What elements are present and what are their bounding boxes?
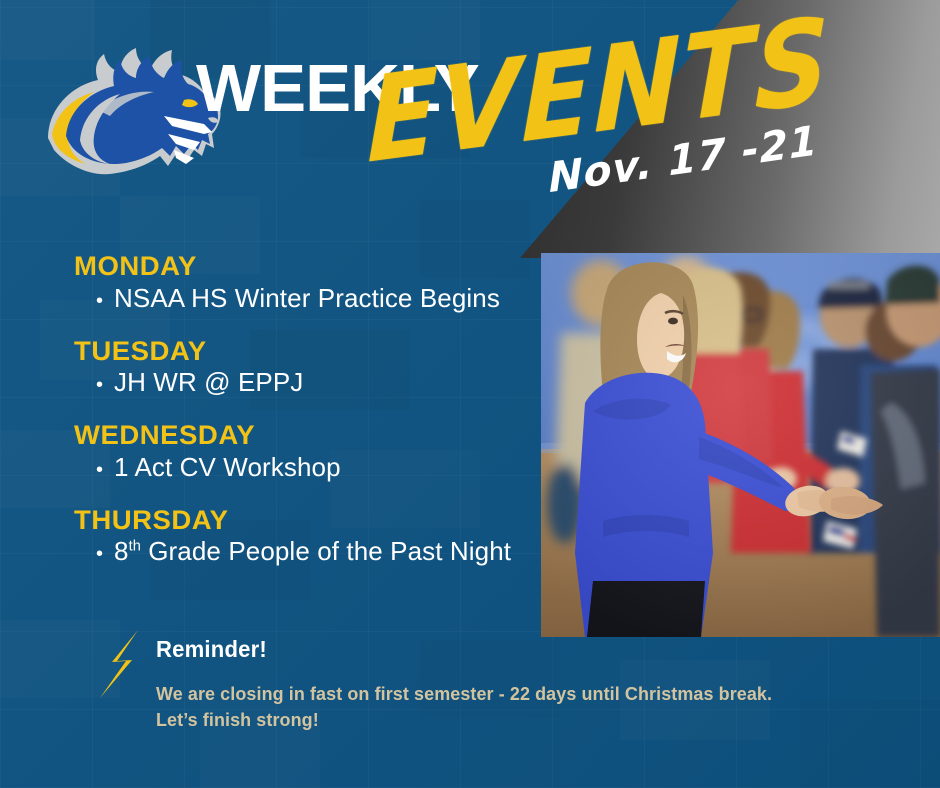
event-item-tuesday-0: • JH WR @ EPPJ — [74, 368, 544, 398]
day-heading-monday: MONDAY — [74, 252, 553, 282]
reminder-title: Reminder! — [156, 636, 766, 664]
day-block-tuesday: TUESDAY • JH WR @ EPPJ — [74, 337, 544, 399]
day-block-monday: MONDAY • NSAA HS Winter Practice Begins — [74, 252, 544, 314]
day-block-wednesday: WEDNESDAY • 1 Act CV Workshop — [74, 421, 544, 483]
day-heading-thursday: THURSDAY — [74, 506, 553, 536]
day-heading-wednesday: WEDNESDAY — [74, 421, 553, 451]
lightning-bolt-icon — [92, 628, 148, 700]
event-item-thursday-0: • 8th Grade People of the Past Night — [74, 537, 544, 567]
reminder-message: We are closing in fast on first semester… — [156, 681, 772, 735]
reminder-line-2: Let’s finish strong! — [156, 707, 772, 734]
bullet-icon: • — [96, 291, 114, 311]
event-photo — [541, 253, 940, 637]
event-item-monday-0: • NSAA HS Winter Practice Begins — [74, 284, 544, 314]
day-heading-tuesday: TUESDAY — [74, 337, 553, 367]
bullet-icon: • — [96, 375, 114, 395]
event-text-thursday-0: 8th Grade People of the Past Night — [114, 537, 511, 567]
event-ordinal-suffix: th — [129, 539, 141, 555]
reminder-text-block: Reminder! We are closing in fast on firs… — [156, 628, 791, 734]
bullet-icon: • — [96, 544, 114, 564]
event-text-monday-0: NSAA HS Winter Practice Begins — [114, 284, 500, 314]
reminder-line-1: We are closing in fast on first semester… — [156, 681, 772, 708]
weekly-schedule-list: MONDAY • NSAA HS Winter Practice Begins … — [74, 252, 544, 567]
event-ordinal-number: 8 — [114, 536, 129, 566]
event-text-remainder: Grade People of the Past Night — [141, 536, 511, 566]
event-text-wednesday-0: 1 Act CV Workshop — [114, 453, 341, 483]
day-block-thursday: THURSDAY • 8th Grade People of the Past … — [74, 506, 544, 568]
reminder-section: Reminder! We are closing in fast on firs… — [92, 628, 892, 734]
weekly-events-poster: WEEKLY EVENTS Nov. 17 -21 MONDAY • NSAA … — [0, 0, 940, 788]
event-text-tuesday-0: JH WR @ EPPJ — [114, 368, 303, 398]
poster-header: WEEKLY EVENTS Nov. 17 -21 — [0, 0, 940, 258]
bullet-icon: • — [96, 460, 114, 480]
event-item-wednesday-0: • 1 Act CV Workshop — [74, 453, 544, 483]
